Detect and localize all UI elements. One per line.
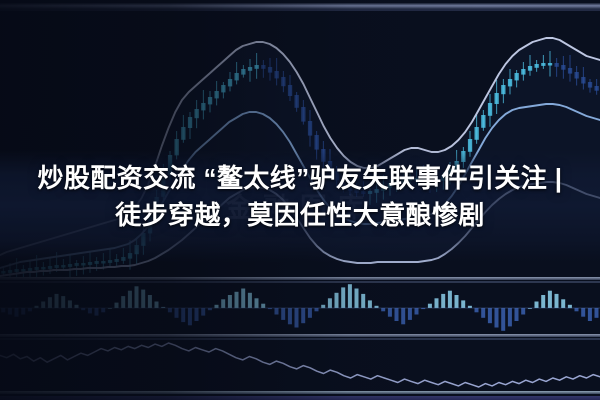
banner-image: 金融图库 炒股配资交流 “鳌太线”驴友失联事件引关注 | 徒步穿越，莫因任性大意… — [0, 0, 600, 400]
headline-line-2: 徒步穿越，莫因任性大意酿惨剧 — [0, 197, 600, 234]
headline-line-1: 炒股配资交流 “鳌太线”驴友失联事件引关注 | — [0, 160, 600, 197]
headline-text: 炒股配资交流 “鳌太线”驴友失联事件引关注 | 徒步穿越，莫因任性大意酿惨剧 — [0, 160, 600, 234]
